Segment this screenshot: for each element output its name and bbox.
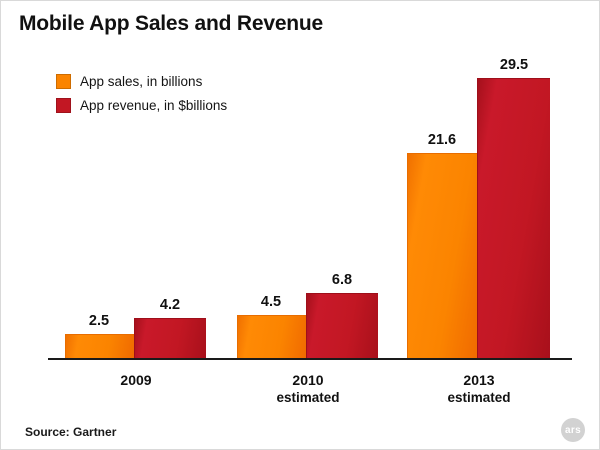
- bar-sales-2010: [237, 315, 306, 358]
- bar-value-revenue-2009: 4.2: [160, 297, 180, 313]
- source-note: Source: Gartner: [25, 425, 116, 439]
- bar-value-sales-2010: 4.5: [261, 294, 281, 310]
- bar-revenue-2010: [306, 293, 378, 358]
- chart-card: Mobile App Sales and Revenue App sales, …: [0, 0, 600, 450]
- plot-area: 2.5 4.2 2009 4.5 6.8 2010 estimated 21.6…: [1, 1, 600, 450]
- bar-revenue-2009: [134, 318, 206, 358]
- bar-value-sales-2013: 21.6: [428, 132, 456, 148]
- bar-revenue-2013: [477, 78, 550, 358]
- x-axis-label-2013-sub: estimated: [447, 389, 510, 406]
- x-axis-label-2013: 2013 estimated: [447, 372, 510, 406]
- x-axis-label-2009-year: 2009: [120, 372, 151, 388]
- bar-sales-2009: [65, 334, 134, 358]
- x-axis-line: [48, 358, 572, 360]
- bar-value-sales-2009: 2.5: [89, 313, 109, 329]
- x-axis-label-2013-year: 2013: [463, 372, 494, 388]
- bar-value-revenue-2010: 6.8: [332, 272, 352, 288]
- x-axis-label-2010-sub: estimated: [276, 389, 339, 406]
- bar-sales-2013: [407, 153, 477, 358]
- x-axis-label-2010: 2010 estimated: [276, 372, 339, 406]
- x-axis-label-2010-year: 2010: [292, 372, 323, 388]
- bar-value-revenue-2013: 29.5: [500, 57, 528, 73]
- x-axis-label-2009: 2009: [120, 372, 151, 389]
- ars-logo: ars: [561, 418, 585, 442]
